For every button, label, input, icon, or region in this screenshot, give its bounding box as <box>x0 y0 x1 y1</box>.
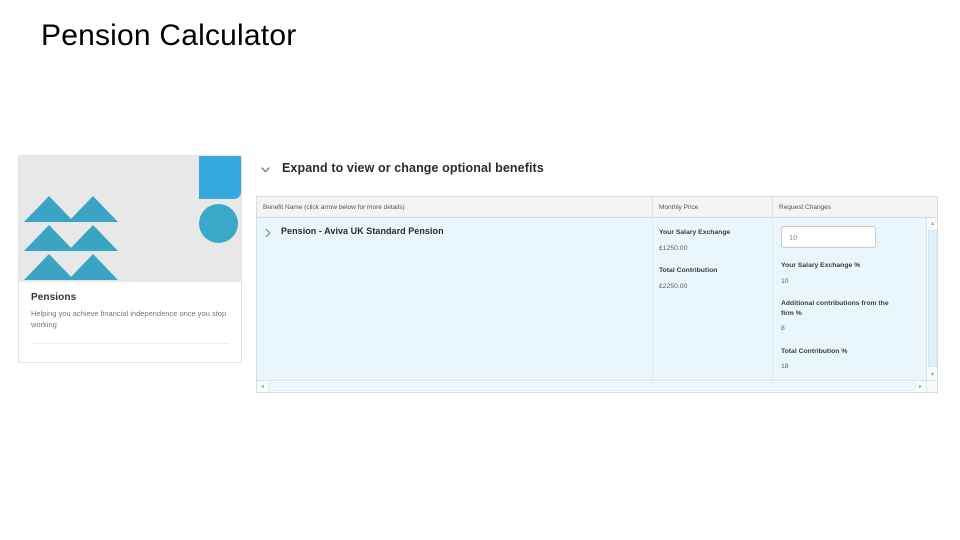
total-contribution-price-block: Total Contribution £2250.00 <box>659 266 779 291</box>
scroll-right-arrow-icon[interactable]: ▸ <box>915 381 926 392</box>
scroll-up-arrow-icon[interactable]: ▴ <box>927 218 938 229</box>
salary-exchange-percent-label: Your Salary Exchange % <box>781 261 899 271</box>
salary-exchange-input[interactable] <box>781 226 876 248</box>
table-header-row: Benefit Name (click arrow below for more… <box>257 197 937 218</box>
teal-triangle-icon <box>24 196 74 222</box>
scroll-left-arrow-icon[interactable]: ◂ <box>257 381 268 392</box>
pensions-benefit-card[interactable]: Pensions Helping you achieve financial i… <box>18 155 242 363</box>
total-contribution-percent-label: Total Contribution % <box>781 347 899 357</box>
teal-triangle-icon <box>24 225 74 251</box>
firm-contributions-percent-label: Additional contributions from the firm % <box>781 299 899 318</box>
teal-triangle-icon <box>68 254 118 280</box>
card-hero-graphic <box>19 156 241 282</box>
salary-exchange-price-value: £1250.00 <box>659 244 779 254</box>
card-description: Helping you achieve financial independen… <box>31 308 227 330</box>
firm-contributions-percent-block: Additional contributions from the firm %… <box>781 299 899 334</box>
benefit-name-label: Pension - Aviva UK Standard Pension <box>281 226 444 236</box>
salary-exchange-price-block: Your Salary Exchange £1250.00 <box>659 228 779 253</box>
total-contribution-percent-block: Total Contribution % 18 <box>781 347 899 372</box>
scrollbar-corner <box>926 380 937 392</box>
chevron-down-icon[interactable] <box>259 163 272 176</box>
triangle-pattern <box>24 196 116 280</box>
card-body: Pensions Helping you achieve financial i… <box>19 282 241 330</box>
vertical-scroll-thumb[interactable] <box>928 230 937 367</box>
row-expand-toggle[interactable]: Pension - Aviva UK Standard Pension <box>263 226 652 239</box>
salary-exchange-percent-block: Your Salary Exchange % 10 <box>781 261 899 286</box>
chevron-right-icon[interactable] <box>263 227 273 239</box>
teal-triangle-icon <box>24 254 74 280</box>
card-divider <box>31 343 229 344</box>
expand-label: Expand to view or change optional benefi… <box>282 161 544 175</box>
cell-request-changes: Your Salary Exchange % 10 Additional con… <box>773 218 937 393</box>
horizontal-scroll-thumb[interactable] <box>268 382 915 391</box>
card-title: Pensions <box>31 292 229 303</box>
blue-square-icon <box>199 156 241 199</box>
cell-monthly-price: Your Salary Exchange £1250.00 Total Cont… <box>653 218 773 393</box>
total-contribution-percent-value: 18 <box>781 362 899 372</box>
teal-triangle-icon <box>68 196 118 222</box>
teal-triangle-icon <box>68 225 118 251</box>
total-contribution-price-value: £2250.00 <box>659 282 779 292</box>
expand-optional-benefits-toggle[interactable]: Expand to view or change optional benefi… <box>259 158 544 178</box>
column-header-benefit-name[interactable]: Benefit Name (click arrow below for more… <box>257 197 653 217</box>
column-header-monthly-price[interactable]: Monthly Price <box>653 197 773 217</box>
firm-contributions-percent-value: 8 <box>781 324 899 334</box>
table-vertical-scrollbar[interactable]: ▴ ▾ <box>926 218 937 380</box>
teal-circle-icon <box>199 204 238 243</box>
page-title: Pension Calculator <box>41 18 296 54</box>
table-horizontal-scrollbar[interactable]: ◂ ▸ <box>257 380 926 392</box>
table-row: Pension - Aviva UK Standard Pension Your… <box>257 218 937 393</box>
column-header-request-changes[interactable]: Request Changes <box>773 197 937 217</box>
salary-exchange-price-label: Your Salary Exchange <box>659 228 779 238</box>
benefits-table[interactable]: Benefit Name (click arrow below for more… <box>256 196 938 393</box>
salary-exchange-percent-value: 10 <box>781 277 899 287</box>
total-contribution-price-label: Total Contribution <box>659 266 779 276</box>
cell-benefit-name: Pension - Aviva UK Standard Pension <box>257 218 653 393</box>
scroll-down-arrow-icon[interactable]: ▾ <box>927 369 938 380</box>
